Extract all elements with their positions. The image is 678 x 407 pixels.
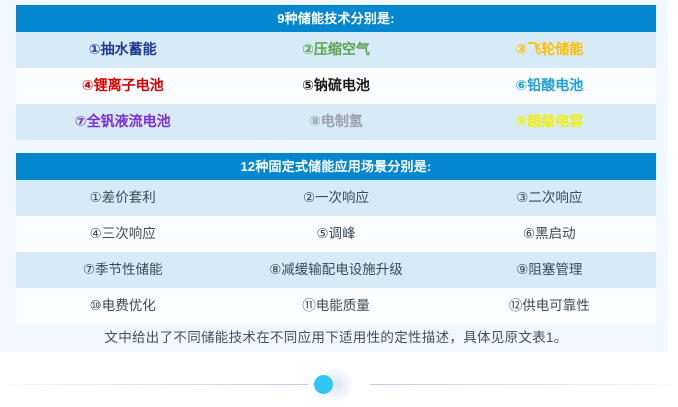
scene-cell-9: ⑨阻塞管理 xyxy=(443,263,656,278)
page-root: 9种储能技术分别是: ①抽水蓄能 ②压缩空气 ③飞轮储能 ④锂离子电池 ⑤钠硫电… xyxy=(0,0,678,407)
scene-label: ⑦季节性储能 xyxy=(83,262,163,277)
table-row: ④三次响应 ⑤调峰 ⑥黑启动 xyxy=(16,216,656,252)
divider-line-right xyxy=(370,384,678,385)
scene-section-header: 12种固定式储能应用场景分别是: xyxy=(16,153,656,180)
table-row: ⑦全钒液流电池 ⑧电制氢 ⑨超级电容 xyxy=(16,104,656,140)
scene-label: ①差价套利 xyxy=(90,190,156,205)
tech-cell-3: ③飞轮储能 xyxy=(443,42,656,57)
scene-label: ②一次响应 xyxy=(303,190,369,205)
table-row: ⑩电费优化 ⑪电能质量 ⑫供电可靠性 xyxy=(16,288,656,324)
divider-line-left xyxy=(0,384,308,385)
tech-label: ①抽水蓄能 xyxy=(89,41,157,57)
scene-cell-10: ⑩电费优化 xyxy=(16,299,229,314)
section-gap xyxy=(16,140,656,148)
right-white-margin xyxy=(668,0,678,356)
scene-label: ⑫供电可靠性 xyxy=(509,298,590,313)
scene-label: ⑩电费优化 xyxy=(90,298,156,313)
tech-label: ②压缩空气 xyxy=(302,41,370,57)
tech-section-header: 9种储能技术分别是: xyxy=(16,5,656,32)
scene-label: ⑤调峰 xyxy=(316,226,355,241)
tech-label: ⑦全钒液流电池 xyxy=(75,113,171,129)
tech-cell-5: ⑤钠硫电池 xyxy=(229,78,442,93)
scene-cell-6: ⑥黑启动 xyxy=(443,227,656,242)
scene-label: ⑧减缓输配电设施升级 xyxy=(269,262,403,277)
tech-label: ⑧电制氢 xyxy=(309,113,363,129)
scene-cell-8: ⑧减缓输配电设施升级 xyxy=(229,263,442,278)
tech-label: ③飞轮储能 xyxy=(515,41,583,57)
scene-cell-7: ⑦季节性储能 xyxy=(16,263,229,278)
content-column: 9种储能技术分别是: ①抽水蓄能 ②压缩空气 ③飞轮储能 ④锂离子电池 ⑤钠硫电… xyxy=(16,0,656,351)
figure-caption: 文中给出了不同储能技术在不同应用下适用性的定性描述，具体见原文表1。 xyxy=(16,324,656,351)
divider-dot-icon xyxy=(314,375,333,394)
scene-label: ⑪电能质量 xyxy=(302,298,370,313)
scene-label: ⑥黑启动 xyxy=(523,226,576,241)
scene-cell-3: ③二次响应 xyxy=(443,191,656,206)
tech-label: ⑨超级电容 xyxy=(515,113,583,129)
scene-cell-12: ⑫供电可靠性 xyxy=(443,299,656,314)
scene-cell-5: ⑤调峰 xyxy=(229,227,442,242)
scene-cell-2: ②一次响应 xyxy=(229,191,442,206)
scene-label: ④三次响应 xyxy=(90,226,156,241)
tech-cell-9: ⑨超级电容 xyxy=(443,114,656,129)
scene-label: ③二次响应 xyxy=(516,190,582,205)
tech-label: ⑤钠硫电池 xyxy=(302,77,370,93)
tech-cell-4: ④锂离子电池 xyxy=(16,78,229,93)
table-row: ⑦季节性储能 ⑧减缓输配电设施升级 ⑨阻塞管理 xyxy=(16,252,656,288)
tech-cell-1: ①抽水蓄能 xyxy=(16,42,229,57)
tech-cell-7: ⑦全钒液流电池 xyxy=(16,114,229,129)
scene-cell-11: ⑪电能质量 xyxy=(229,299,442,314)
scene-label: ⑨阻塞管理 xyxy=(516,262,582,277)
table-row: ①差价套利 ②一次响应 ③二次响应 xyxy=(16,180,656,216)
tech-label: ④锂离子电池 xyxy=(82,77,164,93)
scene-cell-4: ④三次响应 xyxy=(16,227,229,242)
tech-cell-8: ⑧电制氢 xyxy=(229,114,442,129)
tech-cell-2: ②压缩空气 xyxy=(229,42,442,57)
scene-cell-1: ①差价套利 xyxy=(16,191,229,206)
table-row: ④锂离子电池 ⑤钠硫电池 ⑥铅酸电池 xyxy=(16,68,656,104)
section-divider xyxy=(0,362,678,407)
tech-cell-6: ⑥铅酸电池 xyxy=(443,78,656,93)
table-row: ①抽水蓄能 ②压缩空气 ③飞轮储能 xyxy=(16,32,656,68)
tech-label: ⑥铅酸电池 xyxy=(515,77,583,93)
